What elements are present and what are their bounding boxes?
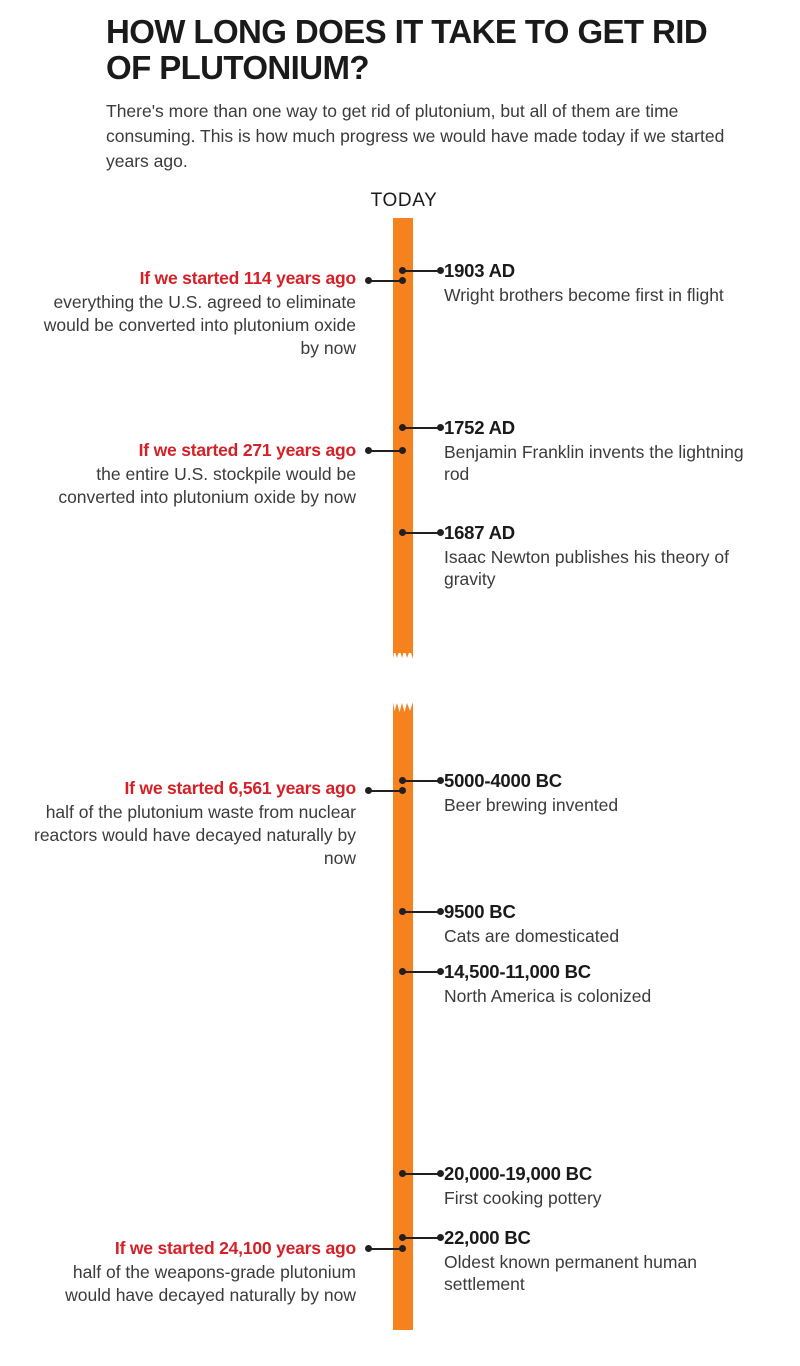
event-description: First cooking pottery (444, 1187, 744, 1209)
page-title: HOW LONG DOES IT TAKE TO GET RID OF PLUT… (106, 14, 726, 85)
scenario-annotation: If we started 24,100 years ago half of t… (26, 1238, 356, 1307)
connector-line-left (369, 790, 403, 792)
event-year: 22,000 BC (444, 1227, 744, 1250)
timeline-marker-dot[interactable] (399, 267, 406, 274)
page-subtitle: There's more than one way to get rid of … (106, 99, 726, 174)
timeline-marker-dot[interactable] (399, 968, 406, 975)
scenario-headline: If we started 6,561 years ago (26, 778, 356, 800)
connector-line-left (369, 450, 403, 452)
timeline-event: 22,000 BC Oldest known permanent human s… (444, 1227, 744, 1295)
timeline-marker-dot[interactable] (399, 1170, 406, 1177)
timeline-event: 20,000-19,000 BC First cooking pottery (444, 1163, 744, 1209)
timeline-marker-dot[interactable] (399, 529, 406, 536)
annotation-anchor-dot (365, 447, 372, 454)
annotation-anchor-dot (365, 277, 372, 284)
event-anchor-dot (437, 1234, 444, 1241)
event-year: 1903 AD (444, 260, 744, 283)
scenario-headline: If we started 271 years ago (26, 440, 356, 462)
annotation-anchor-dot (365, 1245, 372, 1252)
timeline-marker-dot[interactable] (399, 1234, 406, 1241)
event-description: North America is colonized (444, 985, 744, 1007)
timeline-event: 1903 AD Wright brothers become first in … (444, 260, 744, 306)
event-anchor-dot (437, 424, 444, 431)
scenario-annotation: If we started 114 years ago everything t… (26, 268, 356, 361)
event-anchor-dot (437, 267, 444, 274)
timeline-event: 1752 AD Benjamin Franklin invents the li… (444, 417, 744, 485)
timeline-event: 9500 BC Cats are domesticated (444, 901, 744, 947)
connector-line-left (369, 1248, 403, 1250)
header: HOW LONG DOES IT TAKE TO GET RID OF PLUT… (106, 14, 726, 174)
timeline-marker-dot[interactable] (399, 908, 406, 915)
scenario-body: half of the weapons-grade plutonium woul… (26, 1261, 356, 1308)
timeline-event: 1687 AD Isaac Newton publishes his theor… (444, 522, 744, 590)
scenario-body: half of the plutonium waste from nuclear… (26, 801, 356, 871)
connector-line-right (405, 780, 441, 782)
event-description: Wright brothers become first in flight (444, 284, 744, 306)
event-description: Benjamin Franklin invents the lightning … (444, 441, 744, 486)
today-axis-label-text: TODAY (371, 190, 438, 211)
scenario-annotation: If we started 6,561 years ago half of th… (26, 778, 356, 871)
today-axis-label: TODAY (0, 190, 800, 212)
connector-line-right (405, 971, 441, 973)
connector-line-right (405, 270, 441, 272)
connector-line-right (405, 911, 441, 913)
timeline-marker-dot[interactable] (399, 277, 406, 284)
connector-line-right (405, 1237, 441, 1239)
connector-line-right (405, 1173, 441, 1175)
event-description: Oldest known permanent human settlement (444, 1251, 744, 1296)
scenario-annotation: If we started 271 years ago the entire U… (26, 440, 356, 509)
event-anchor-dot (437, 908, 444, 915)
event-year: 9500 BC (444, 901, 744, 924)
timeline-event: 14,500-11,000 BC North America is coloni… (444, 961, 744, 1007)
scenario-body: everything the U.S. agreed to eliminate … (26, 291, 356, 361)
event-description: Cats are domesticated (444, 925, 744, 947)
connector-line-left (369, 280, 403, 282)
timeline-marker-dot[interactable] (399, 1245, 406, 1252)
scenario-headline: If we started 24,100 years ago (26, 1238, 356, 1260)
event-year: 1687 AD (444, 522, 744, 545)
event-year: 20,000-19,000 BC (444, 1163, 744, 1186)
event-year: 5000-4000 BC (444, 770, 744, 793)
timeline-bar-torn-bottom-icon (393, 645, 413, 659)
timeline-marker-dot[interactable] (399, 787, 406, 794)
annotation-anchor-dot (365, 787, 372, 794)
event-anchor-dot (437, 968, 444, 975)
event-description: Isaac Newton publishes his theory of gra… (444, 546, 744, 591)
timeline-event: 5000-4000 BC Beer brewing invented (444, 770, 744, 816)
event-anchor-dot (437, 1170, 444, 1177)
timeline-marker-dot[interactable] (399, 447, 406, 454)
event-year: 14,500-11,000 BC (444, 961, 744, 984)
event-description: Beer brewing invented (444, 794, 744, 816)
connector-line-right (405, 532, 441, 534)
scenario-headline: If we started 114 years ago (26, 268, 356, 290)
event-anchor-dot (437, 777, 444, 784)
timeline-marker-dot[interactable] (399, 777, 406, 784)
timeline-marker-dot[interactable] (399, 424, 406, 431)
event-anchor-dot (437, 529, 444, 536)
connector-line-right (405, 427, 441, 429)
scenario-body: the entire U.S. stockpile would be conve… (26, 463, 356, 510)
event-year: 1752 AD (444, 417, 744, 440)
